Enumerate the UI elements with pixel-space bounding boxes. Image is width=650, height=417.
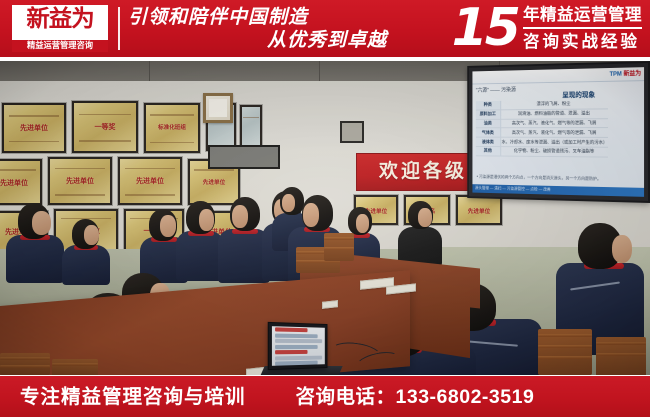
plaque-item: 先进单位 [48,157,112,205]
slide-row-value: 高次气、蒸汽、液化气、燃气等的泄漏、飞屑 [500,128,608,138]
plaque-title: 先进单位 [50,177,110,185]
footer-tagline: 专注精益管理咨询与培训 [20,385,246,409]
page-footer: 专注精益管理咨询与培训 咨询电话：133-6802-3519 [0,376,650,417]
laptop-display [271,326,324,366]
table-row: 油类 高次气、蒸汽、液化气、燃气等的泄漏、飞屑 [476,118,608,128]
slide-note: • 污染源是潜伏的两个方向点，一个方向是消灭源头，另一个方向是防护。 [477,174,640,183]
plaque-item: 先进单位 [2,103,66,153]
header-slogan: 引领和陪伴中国制造 从优秀到卓越 [128,4,393,54]
person-seated [398,201,442,263]
projector-screen: TPM 新益为 "六源" —— 污染源 呈现的现象 种类 漂浮的飞屑、粉尘 原料… [467,61,650,203]
slide-row-value: 化学物、粉尘、破损管道残污、叉车油脂等 [500,147,608,157]
logo-sub-text: 精益运营管理咨询 [13,41,106,50]
projector-slide: TPM 新益为 "六源" —— 污染源 呈现的现象 种类 漂浮的飞屑、粉尘 原料… [472,67,644,197]
logo-main-text: 新益为 [14,7,106,31]
slide-row-value: 高次气、蒸汽、液化气、燃气等的泄漏、飞屑 [500,118,608,128]
plaque-item: 一等奖 [72,101,138,153]
person-seated [176,201,224,279]
table-row: 气体类 高次气、蒸汽、液化气、燃气等的泄漏、飞屑 [476,128,608,138]
plaque-item: 标准化班组 [144,103,200,153]
slide-row-key: 其他 [476,146,500,155]
slide-col-header: 种类 [476,101,500,110]
plaque-title: 先进单位 [0,179,40,187]
logo-sub-band: 精益运营管理咨询 [12,40,108,52]
slide-row-key: 油类 [476,119,500,128]
plaque-item: 先进单位 [118,157,182,205]
welcome-banner-text: 欢迎各级 [379,161,467,183]
years-line-2: 咨询实战经验 [523,29,642,53]
table-row: 其他 化学物、粉尘、破损管道残污、叉车油脂等 [476,146,608,156]
plaque-item: 先进单位 [0,159,42,205]
slide-brand-tpm: TPM [610,72,622,78]
footer-phone[interactable]: 咨询电话：133-6802-3519 [296,385,535,409]
slogan-line-1: 引领和陪伴中国制造 [128,6,308,28]
wall-picture-frame [203,93,233,123]
slide-breadcrumb: "六源" —— 污染源 [476,86,516,94]
chair [52,359,98,375]
slide-table: 种类 漂浮的飞屑、粉尘 原料加工 润滑油、燃料油脂的管道、泄漏、溢出 油类 高次… [476,100,608,158]
years-number: 15 [452,2,518,54]
plaque-title: 先进单位 [458,208,500,216]
training-photo: 先进单位 一等奖 标准化班组 先进单位 [0,61,650,375]
plaque-title: 先进单位 [4,124,64,132]
slide-brand-name: 新益为 [623,71,641,77]
experience-badge: 15 年精益运营管理 咨询实战经验 [452,1,642,56]
slide-footer: 源头管理 — 清扫 — 污染源管控 — 点检 — 改善 [472,184,644,197]
plaque-title: 先进单位 [190,179,238,187]
chair [538,329,592,375]
chair [324,233,354,261]
header-divider [118,7,120,50]
plaque-item: 先进单位 [456,195,502,225]
slide-row-key: 气体类 [476,128,500,137]
page-header: 新益为 精益运营管理咨询 引领和陪伴中国制造 从优秀到卓越 15 年精益运营管理… [0,0,650,57]
slide-row-key: 原料加工 [476,110,500,119]
wall-small-frame [340,121,364,143]
laptop[interactable] [268,322,328,370]
years-text-block: 年精益运营管理 咨询实战经验 [523,4,642,53]
years-line-1: 年精益运营管理 [523,4,642,29]
slide-row-value: 润滑油、燃料油脂的管道、泄漏、溢出 [500,109,608,119]
plaque-title: 一等奖 [74,123,136,131]
chair [0,353,50,375]
wall-dark-frame [208,145,280,169]
slide-footer-text: 源头管理 — 清扫 — 污染源管控 — 点检 — 改善 [475,185,551,192]
plaque-title: 先进单位 [120,177,180,185]
slogan-line-2: 从优秀到卓越 [267,29,387,51]
slide-row-key: 液体类 [476,137,500,146]
company-logo[interactable]: 新益为 精益运营管理咨询 [12,5,108,52]
plaque-title: 标准化班组 [146,124,198,132]
banner-page: 新益为 精益运营管理咨询 引领和陪伴中国制造 从优秀到卓越 15 年精益运营管理… [0,0,650,417]
person-seated [6,201,64,281]
slide-brand: TPM 新益为 [610,68,642,78]
chair [596,337,646,375]
